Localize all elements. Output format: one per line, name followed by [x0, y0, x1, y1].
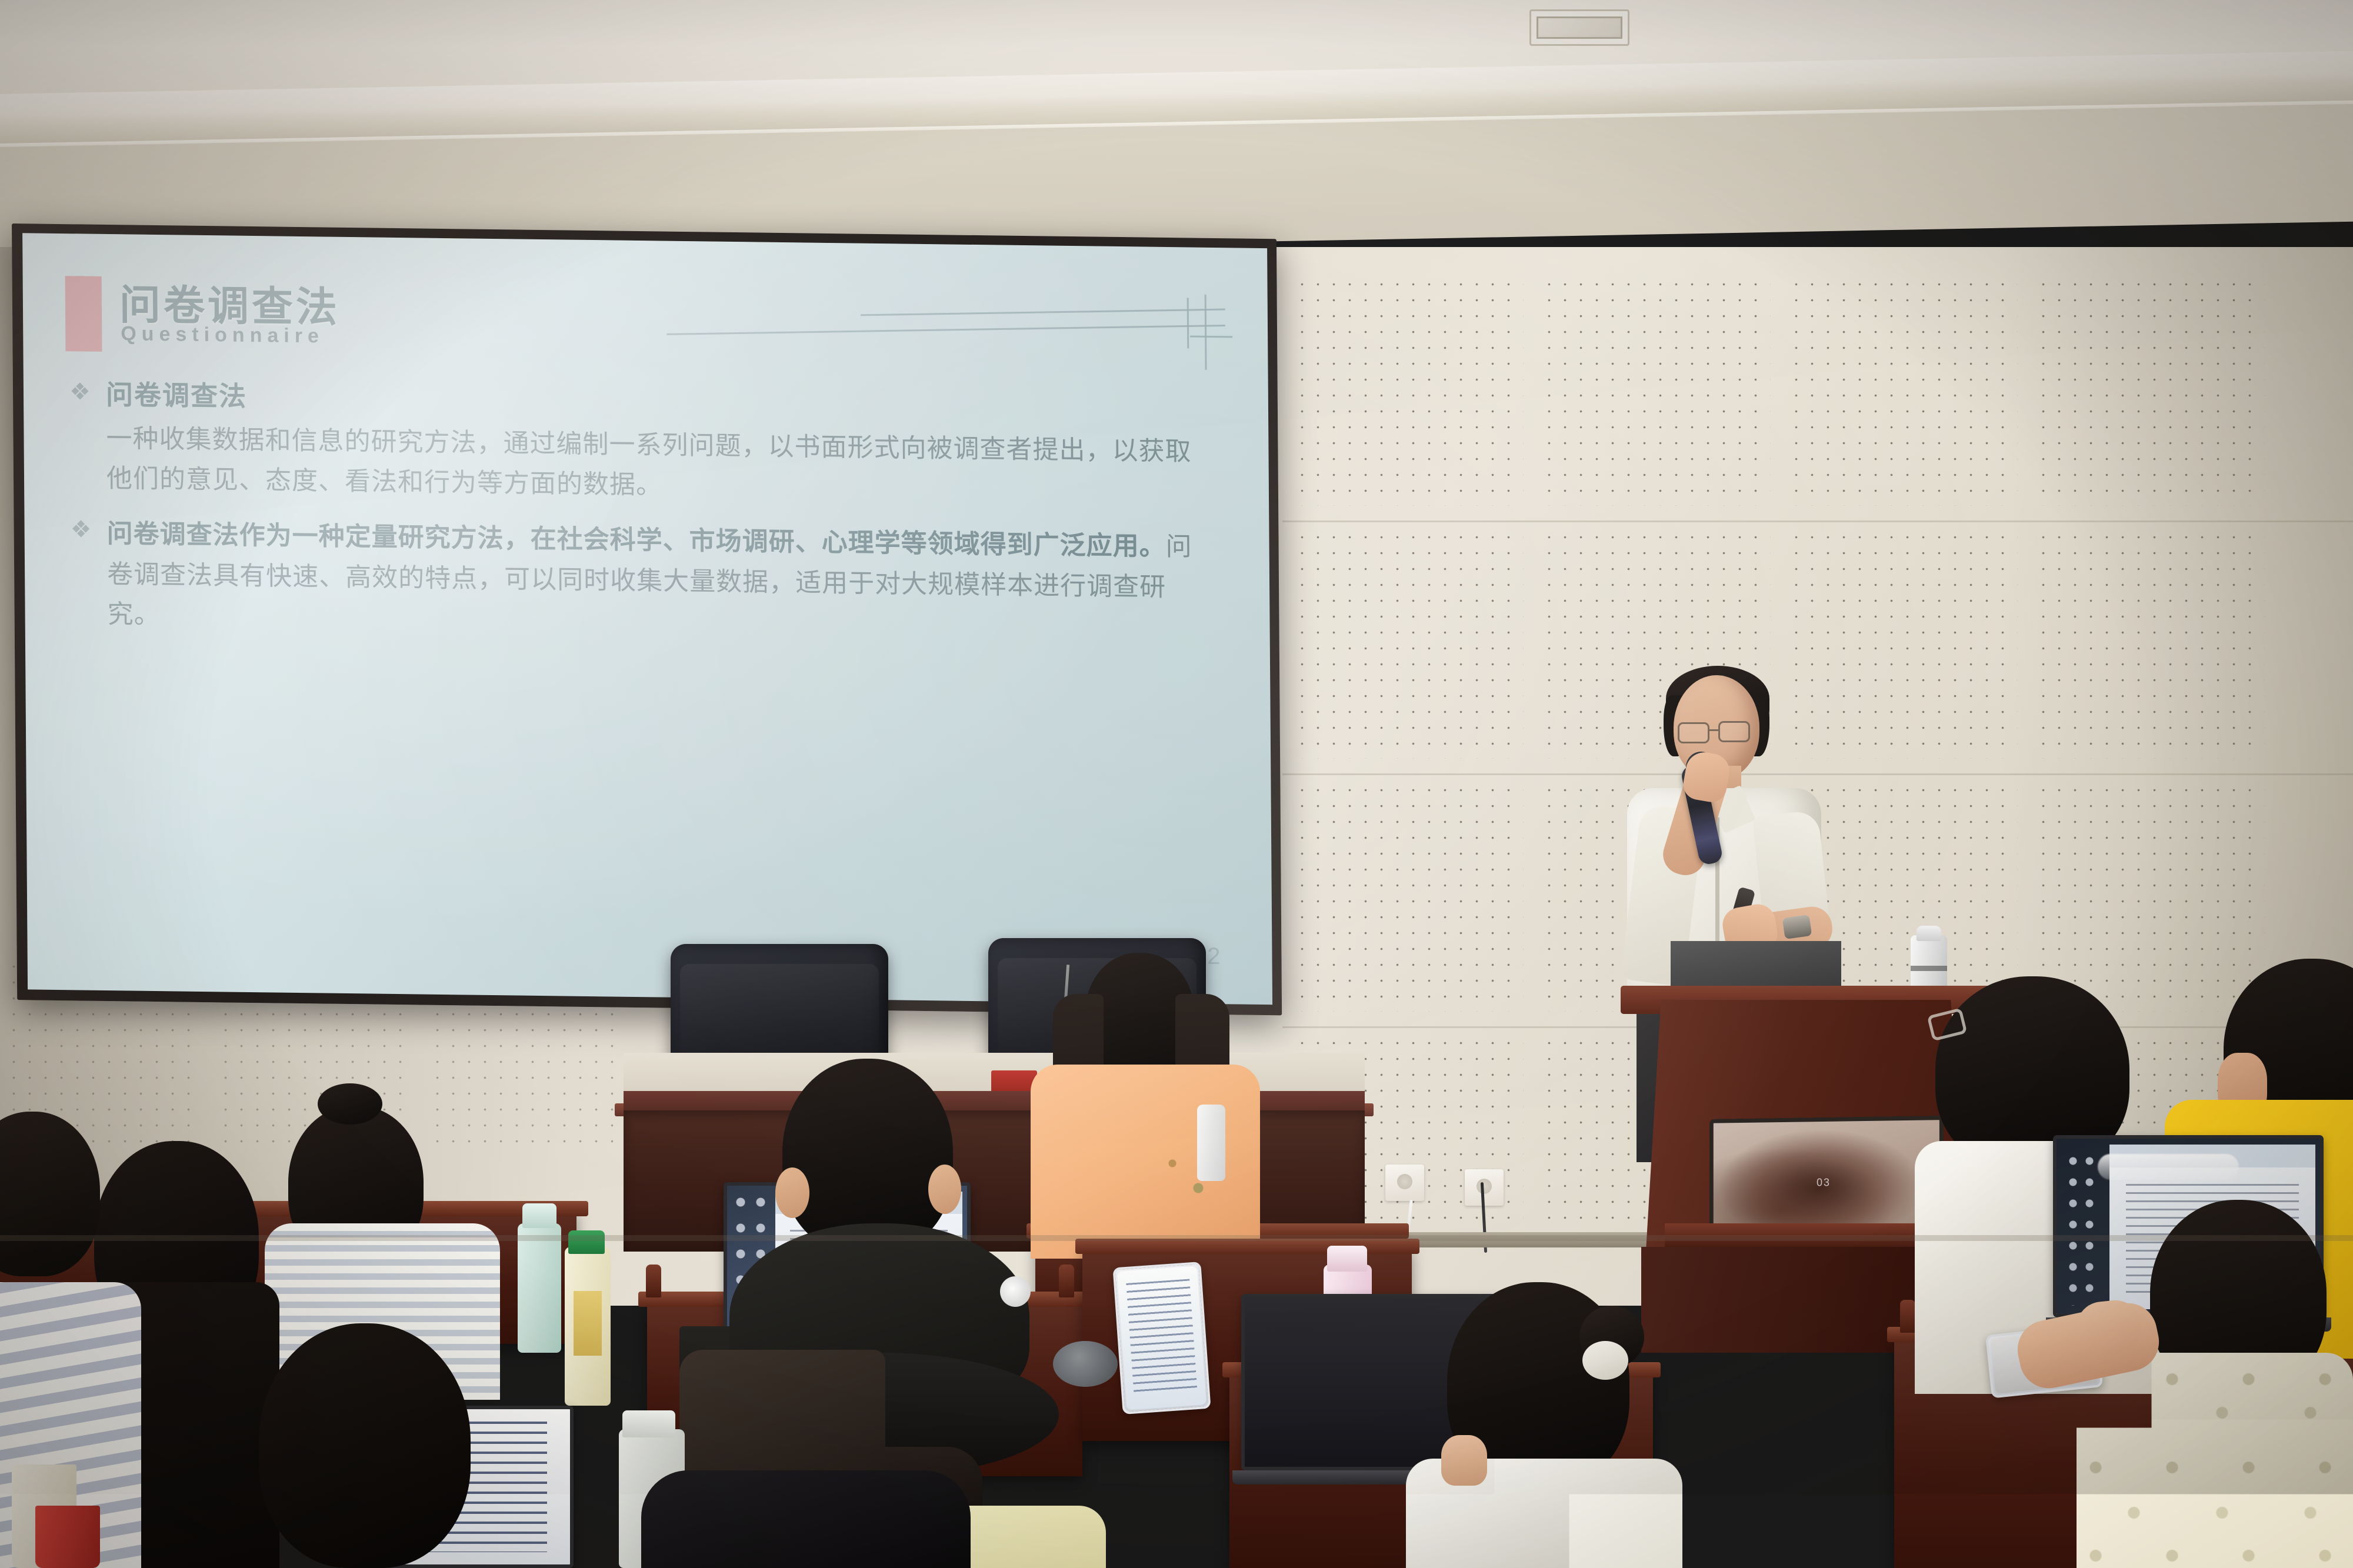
- bullet-2-body: 问卷调查法作为一种定量研究方法，在社会科学、市场调研、心理学等领域得到广泛应用。…: [106, 514, 1207, 648]
- screen-glare: [2098, 1154, 2239, 1180]
- bullet-diamond-icon-2: ❖: [66, 514, 106, 546]
- mint-thermos: [518, 1223, 561, 1353]
- orange-hoodie: [1031, 1065, 1260, 1259]
- mint-thermos-cap: [522, 1203, 556, 1228]
- phone-center[interactable]: [1112, 1262, 1211, 1414]
- bullet-item-2: ❖ 问卷调查法作为一种定量研究方法，在社会科学、市场调研、心理学等领域得到广泛应…: [66, 514, 1227, 649]
- eyeglasses-right-lens-icon: [1718, 721, 1750, 742]
- hat-badge-icon: [1000, 1276, 1031, 1307]
- eyeglasses-left-lens-icon: [1678, 722, 1709, 743]
- title-accent-bar: [65, 276, 102, 352]
- floral-blouse: [2077, 1353, 2353, 1568]
- juice-bottle-cap: [568, 1230, 605, 1254]
- wristwatch-icon: [1782, 915, 1812, 939]
- projection-screen: 问卷调查法 Questionnaire ❖ 问卷调查法 一种收集数据和信息的研究…: [12, 223, 1282, 1015]
- bottle-white-back: [1197, 1105, 1225, 1181]
- slide-title-english: Questionnaire: [121, 322, 324, 348]
- bench-post-1: [646, 1265, 661, 1297]
- front-person-neck: [1441, 1435, 1487, 1486]
- decorative-lines: [608, 286, 1232, 393]
- slide-body: ❖ 问卷调查法 一种收集数据和信息的研究方法，通过编制一系列问题，以书面形式向被…: [66, 376, 1228, 648]
- ceiling-air-vent-icon: [1529, 9, 1629, 46]
- presentation-slide: 问卷调查法 Questionnaire ❖ 问卷调查法 一种收集数据和信息的研究…: [22, 233, 1272, 1005]
- juice-bottle-label: [574, 1291, 602, 1356]
- screen-surface: 问卷调查法 Questionnaire ❖ 问卷调查法 一种收集数据和信息的研究…: [22, 233, 1272, 1005]
- bench-post-2: [1059, 1265, 1074, 1297]
- computer-mouse-icon[interactable]: [1053, 1341, 1118, 1387]
- white-bottle-cap-center: [622, 1410, 675, 1437]
- bullet-1-body: 一种收集数据和信息的研究方法，通过编制一系列问题，以书面形式向被调查者提出，以获…: [106, 419, 1207, 512]
- lectern-laptop-label: 03: [1817, 1176, 1831, 1189]
- floor-line: [0, 1235, 2353, 1241]
- pink-tumbler-cap: [1327, 1246, 1367, 1272]
- lecture-hall-scene: 问卷调查法 Questionnaire ❖ 问卷调查法 一种收集数据和信息的研究…: [0, 0, 2353, 1568]
- bullet-diamond-icon: ❖: [66, 376, 106, 408]
- cup-red-left: [35, 1506, 100, 1568]
- bullet-1-heading: 问卷调查法: [106, 376, 247, 415]
- eyeglasses-bridge-icon: [1709, 729, 1718, 731]
- bullet-2-body-bold: 问卷调查法作为一种定量研究方法，在社会科学、市场调研、心理学等领域得到广泛应用。: [106, 519, 1165, 561]
- bench-post-right: [1900, 1300, 1915, 1333]
- slide-header: 问卷调查法 Questionnaire: [65, 268, 1226, 382]
- wall-outlet-1: [1385, 1165, 1424, 1201]
- hair-clip-icon: [1582, 1341, 1628, 1380]
